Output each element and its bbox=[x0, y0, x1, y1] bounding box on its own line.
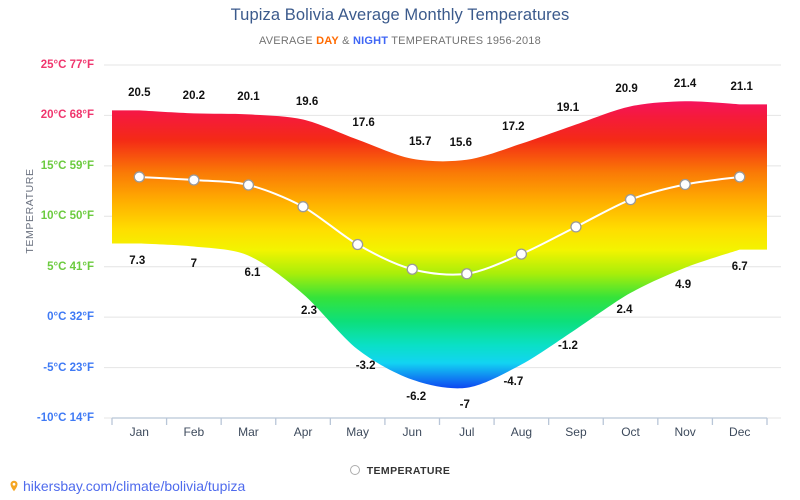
day-value-label-feb: 20.2 bbox=[183, 90, 205, 102]
data-point-marker[interactable] bbox=[407, 264, 417, 274]
data-point-marker[interactable] bbox=[189, 175, 199, 185]
data-point-marker[interactable] bbox=[243, 180, 253, 190]
y-tick-label: 5°C 41°F bbox=[0, 261, 94, 273]
y-tick-label: -5°C 23°F bbox=[0, 362, 94, 374]
x-tick-label-oct: Oct bbox=[621, 425, 640, 439]
day-value-label-nov: 21.4 bbox=[674, 78, 696, 90]
day-value-label-apr: 19.6 bbox=[296, 96, 318, 108]
y-tick-label: 25°C 77°F bbox=[0, 59, 94, 71]
night-value-label-may: -3.2 bbox=[356, 360, 376, 372]
data-point-marker[interactable] bbox=[462, 269, 472, 279]
night-value-label-jul: -7 bbox=[460, 399, 470, 411]
day-value-label-may: 17.6 bbox=[352, 117, 374, 129]
chart-legend[interactable]: TEMPERATURE bbox=[0, 465, 800, 477]
night-value-label-mar: 6.1 bbox=[244, 267, 260, 279]
day-value-label-sep: 19.1 bbox=[557, 102, 579, 114]
x-tick-label-feb: Feb bbox=[184, 425, 205, 439]
circle-marker-icon bbox=[350, 465, 360, 475]
map-pin-icon bbox=[8, 480, 20, 492]
data-point-marker[interactable] bbox=[134, 172, 144, 182]
temperature-band bbox=[112, 101, 767, 388]
y-tick-label: 0°C 32°F bbox=[0, 311, 94, 323]
x-tick-label-aug: Aug bbox=[511, 425, 532, 439]
y-tick-label: -10°C 14°F bbox=[0, 412, 94, 424]
night-value-label-jan: 7.3 bbox=[129, 255, 145, 267]
data-point-marker[interactable] bbox=[680, 180, 690, 190]
source-link[interactable]: hikersbay.com/climate/bolivia/tupiza bbox=[8, 478, 245, 494]
y-tick-label: 15°C 59°F bbox=[0, 160, 94, 172]
data-point-marker[interactable] bbox=[571, 222, 581, 232]
night-value-label-nov: 4.9 bbox=[675, 279, 691, 291]
x-tick-label-mar: Mar bbox=[238, 425, 259, 439]
data-point-marker[interactable] bbox=[298, 202, 308, 212]
night-value-label-jun: -6.2 bbox=[406, 391, 426, 403]
x-tick-label-jun: Jun bbox=[403, 425, 422, 439]
x-tick-label-sep: Sep bbox=[565, 425, 586, 439]
day-value-label-jul: 15.6 bbox=[450, 137, 472, 149]
x-tick-label-may: May bbox=[346, 425, 369, 439]
day-value-label-mar: 20.1 bbox=[237, 91, 259, 103]
night-value-label-oct: 2.4 bbox=[617, 304, 633, 316]
day-value-label-jan: 20.5 bbox=[128, 87, 150, 99]
x-tick-label-apr: Apr bbox=[294, 425, 313, 439]
day-value-label-dec: 21.1 bbox=[731, 81, 753, 93]
data-point-marker[interactable] bbox=[626, 195, 636, 205]
legend-label: TEMPERATURE bbox=[367, 465, 451, 477]
x-tick-label-dec: Dec bbox=[729, 425, 750, 439]
data-point-marker[interactable] bbox=[353, 240, 363, 250]
x-tick-label-jul: Jul bbox=[459, 425, 474, 439]
day-value-label-aug: 17.2 bbox=[502, 121, 524, 133]
data-point-marker[interactable] bbox=[516, 249, 526, 259]
night-value-label-apr: 2.3 bbox=[301, 305, 317, 317]
day-value-label-jun: 15.7 bbox=[409, 136, 431, 148]
x-tick-label-jan: Jan bbox=[130, 425, 149, 439]
chart-container: Tupiza Bolivia Average Monthly Temperatu… bbox=[0, 0, 800, 500]
source-link-text: hikersbay.com/climate/bolivia/tupiza bbox=[23, 478, 245, 494]
night-value-label-dec: 6.7 bbox=[732, 261, 748, 273]
day-value-label-oct: 20.9 bbox=[615, 83, 637, 95]
night-value-label-feb: 7 bbox=[191, 258, 197, 270]
data-point-marker[interactable] bbox=[735, 172, 745, 182]
night-value-label-sep: -1.2 bbox=[558, 340, 578, 352]
night-value-label-aug: -4.7 bbox=[503, 376, 523, 388]
y-tick-label: 20°C 68°F bbox=[0, 109, 94, 121]
x-tick-label-nov: Nov bbox=[674, 425, 695, 439]
y-tick-label: 10°C 50°F bbox=[0, 210, 94, 222]
